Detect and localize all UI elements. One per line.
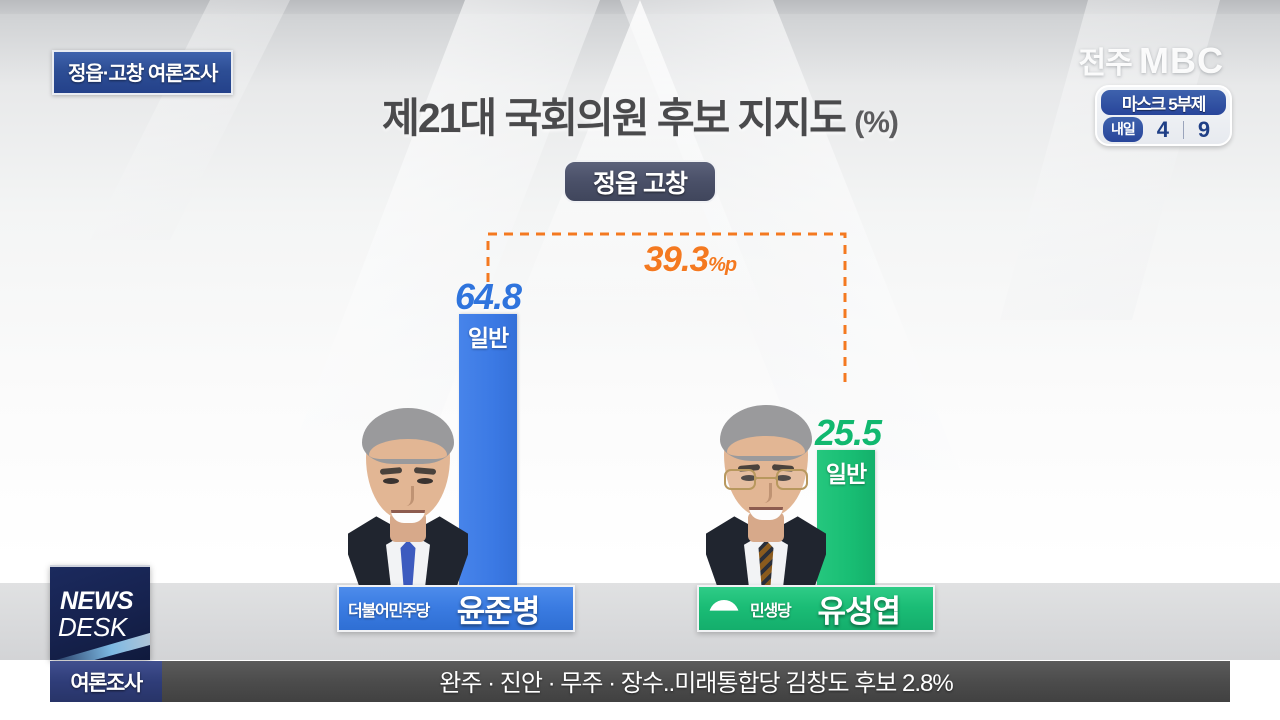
candidate-1-photo bbox=[348, 400, 468, 590]
bar-tag-candidate-1: 일반 bbox=[459, 319, 517, 353]
region-pill: 정읍 고창 bbox=[563, 160, 717, 203]
gap-unit: %p bbox=[708, 254, 736, 276]
hair-shape bbox=[362, 408, 454, 464]
gap-number: 39.3 bbox=[644, 240, 708, 279]
ticker-label: 여론조사 bbox=[50, 661, 162, 702]
station-network-name: MBC bbox=[1139, 40, 1224, 81]
lens-right bbox=[776, 469, 808, 490]
lens-bridge bbox=[756, 477, 776, 479]
eye-right bbox=[417, 478, 433, 484]
hair-shape bbox=[720, 405, 812, 461]
program-logo: NEWS DESK bbox=[50, 565, 150, 660]
candidate-2-name: 유성엽 bbox=[791, 586, 933, 631]
info-box-value-1: 4 bbox=[1143, 117, 1183, 143]
candidate-1-nameplate: 더불어민주당 윤준병 bbox=[337, 585, 575, 632]
lens-left bbox=[724, 469, 756, 490]
glasses-icon bbox=[722, 469, 810, 491]
candidate-2-party: 민생당 bbox=[750, 597, 791, 621]
page-title: 제21대 국회의원 후보 지지도 (%) bbox=[0, 84, 1280, 144]
news-ticker: 여론조사 완주 · 진안 · 무주 · 장수..미래통합당 김창도 후보 2.8… bbox=[50, 661, 1230, 702]
page-title-text: 제21대 국회의원 후보 지지도 bbox=[382, 95, 845, 141]
info-box-row: 내일 4 9 bbox=[1097, 115, 1230, 144]
program-logo-line-2: DESK bbox=[58, 612, 127, 643]
info-box: 마스크 5부제 내일 4 9 bbox=[1095, 85, 1232, 146]
ticker-text: 완주 · 진안 · 무주 · 장수..미래통합당 김창도 후보 2.8% bbox=[162, 661, 1230, 702]
bar-value-candidate-1: 64.8 bbox=[413, 276, 563, 318]
eyebrow-right bbox=[414, 467, 436, 475]
candidate-2-nameplate: 민생당 유성엽 bbox=[697, 585, 935, 632]
background-lower-band bbox=[0, 583, 1280, 660]
candidate-1-name: 윤준병 bbox=[429, 586, 573, 631]
page-title-unit: (%) bbox=[854, 106, 898, 139]
station-name: 전주 MBC bbox=[1078, 38, 1224, 82]
candidate-1-portrait bbox=[348, 400, 468, 590]
party-arc-logo-icon bbox=[709, 598, 739, 620]
info-box-title: 마스크 5부제 bbox=[1101, 90, 1226, 115]
eye-left bbox=[383, 478, 399, 484]
candidate-2-photo bbox=[706, 397, 826, 590]
eyebrow-left bbox=[380, 467, 402, 475]
info-box-value-2: 9 bbox=[1184, 117, 1224, 143]
station-local-name: 전주 bbox=[1078, 47, 1131, 80]
candidate-1-party: 더불어민주당 bbox=[348, 597, 429, 621]
gap-value: 39.3%p bbox=[600, 240, 780, 280]
broadcast-graphic-stage: 정읍·고창 여론조사 제21대 국회의원 후보 지지도 (%) 정읍 고창 39… bbox=[0, 0, 1280, 720]
station-logo: 전주 MBC bbox=[1078, 38, 1224, 82]
info-box-day-badge: 내일 bbox=[1103, 117, 1143, 142]
nose-shape bbox=[402, 486, 414, 506]
candidate-2-portrait bbox=[706, 397, 826, 590]
